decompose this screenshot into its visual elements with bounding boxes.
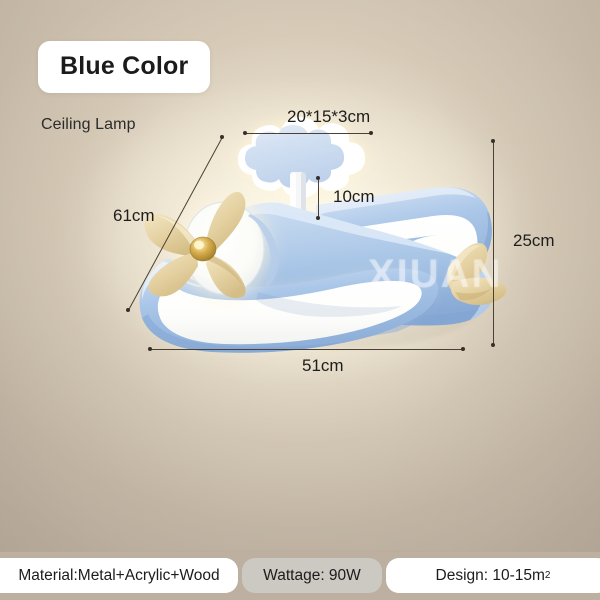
- dimension-endpoint-diagonal-bottom: [126, 308, 130, 312]
- dimension-label-overall-height: 25cm: [513, 231, 555, 251]
- spec-wattage: Wattage: 90W: [242, 558, 382, 593]
- dimension-label-diagonal-width: 61cm: [113, 206, 155, 226]
- dimension-endpoint-height-bottom: [491, 343, 495, 347]
- dimension-endpoint-drop-top: [316, 176, 320, 180]
- dimension-endpoint-width-right: [461, 347, 465, 351]
- dimension-endpoint-height-top: [491, 139, 495, 143]
- spec-material: Material:Metal+Acrylic+Wood: [0, 558, 238, 593]
- specification-bar: Material:Metal+Acrylic+Wood Wattage: 90W…: [0, 552, 600, 600]
- product-type-label: Ceiling Lamp: [41, 116, 136, 134]
- dimension-endpoint-drop-bottom: [316, 216, 320, 220]
- dimension-label-overall-width: 51cm: [302, 356, 344, 376]
- dimension-endpoint-diagonal-top: [220, 135, 224, 139]
- dimension-label-canopy: 20*15*3cm: [287, 107, 370, 127]
- dimension-label-drop-height: 10cm: [333, 187, 375, 207]
- product-image-canvas: XIUAN 20*15*3cm 61cm 10cm 25cm 51cm Blue…: [0, 0, 600, 600]
- spec-design-text: Design: 10-15m: [436, 567, 545, 585]
- spec-design-superscript: 2: [545, 570, 551, 581]
- dimension-endpoint-canopy-right: [369, 131, 373, 135]
- spec-design: Design: 10-15m2: [386, 558, 600, 593]
- dimension-endpoint-canopy-left: [243, 131, 247, 135]
- color-variant-badge: Blue Color: [38, 41, 210, 93]
- dimension-endpoint-width-left: [148, 347, 152, 351]
